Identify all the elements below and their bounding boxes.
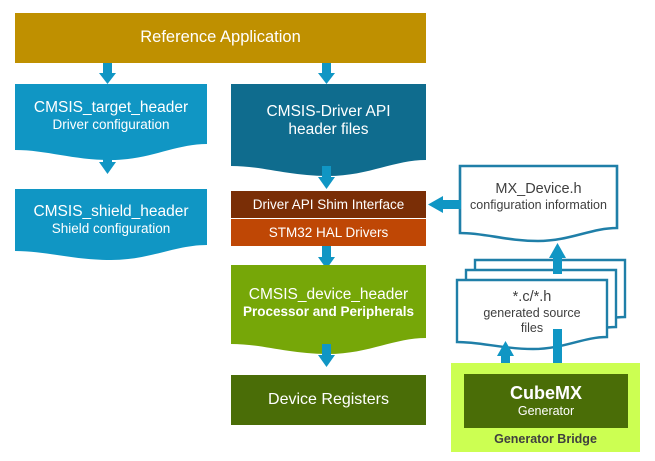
shape-reference-application[interactable]	[15, 13, 426, 63]
arrow-refapp-to-target-header	[99, 63, 116, 84]
shape-cmsis-driver-api[interactable]	[231, 84, 426, 176]
shape-cubemx[interactable]	[464, 374, 628, 428]
arrow-refapp-to-driver-api	[318, 63, 335, 84]
shape-device-registers[interactable]	[231, 375, 426, 425]
shape-mx-device-h[interactable]	[460, 166, 617, 241]
shape-cmsis-device-header[interactable]	[231, 265, 426, 354]
shape-generated-files-front[interactable]	[457, 280, 607, 349]
diagram-shapes	[0, 0, 655, 461]
diagram-canvas: Reference Application CMSIS_target_heade…	[0, 0, 655, 461]
shape-cmsis-shield-header[interactable]	[15, 189, 207, 260]
shape-driver-api-shim[interactable]	[231, 191, 426, 218]
arrow-mx-device-to-shim	[428, 196, 461, 213]
shape-stm32-hal-drivers[interactable]	[231, 219, 426, 246]
